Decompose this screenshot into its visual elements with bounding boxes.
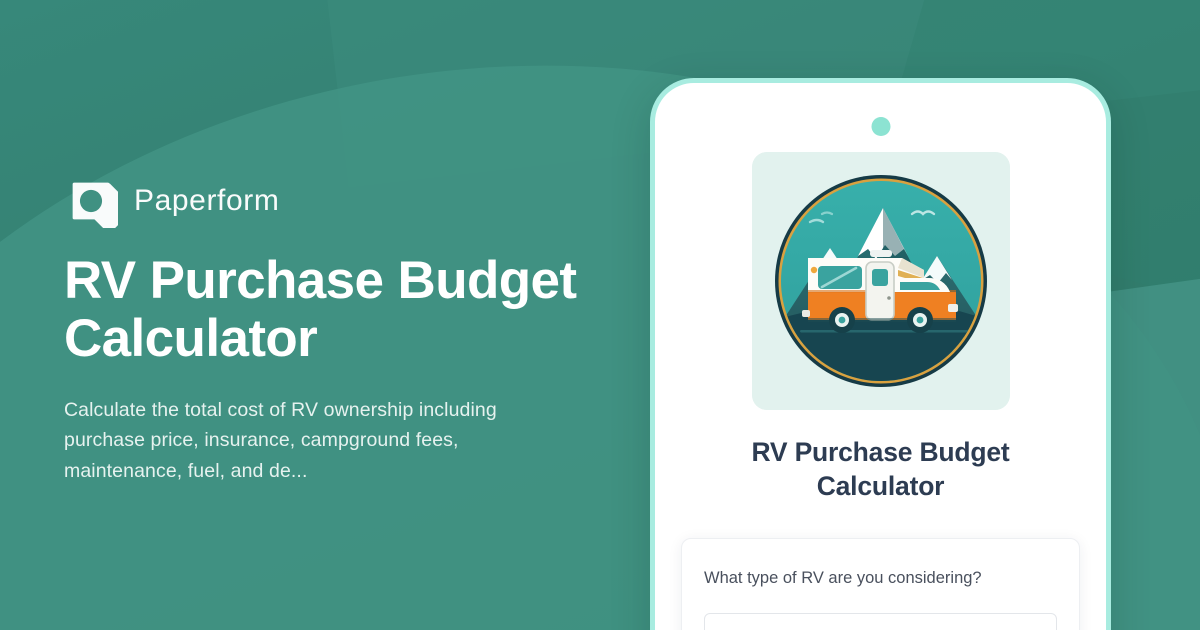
form-title: RV Purchase Budget Calculator <box>689 435 1072 504</box>
rv-mountains-badge-icon <box>752 152 1010 410</box>
brand-name: Paperform <box>134 184 279 218</box>
form-question-card: What type of RV are you considering? <box>681 538 1080 630</box>
question-label: What type of RV are you considering? <box>704 567 1057 591</box>
page-description: Calculate the total cost of RV ownership… <box>64 395 576 487</box>
answer-input[interactable] <box>704 613 1057 630</box>
camera-dot-icon <box>871 117 890 136</box>
brand-lockup: Paperform <box>64 168 604 234</box>
page-title: RV Purchase Budget Calculator <box>64 252 584 369</box>
paperform-rosette-icon <box>64 174 118 228</box>
og-share-card: Paperform RV Purchase Budget Calculator … <box>0 0 1200 630</box>
hero-text-column: Paperform RV Purchase Budget Calculator … <box>64 168 604 487</box>
phone-mockup: RV Purchase Budget Calculator What type … <box>650 78 1111 630</box>
